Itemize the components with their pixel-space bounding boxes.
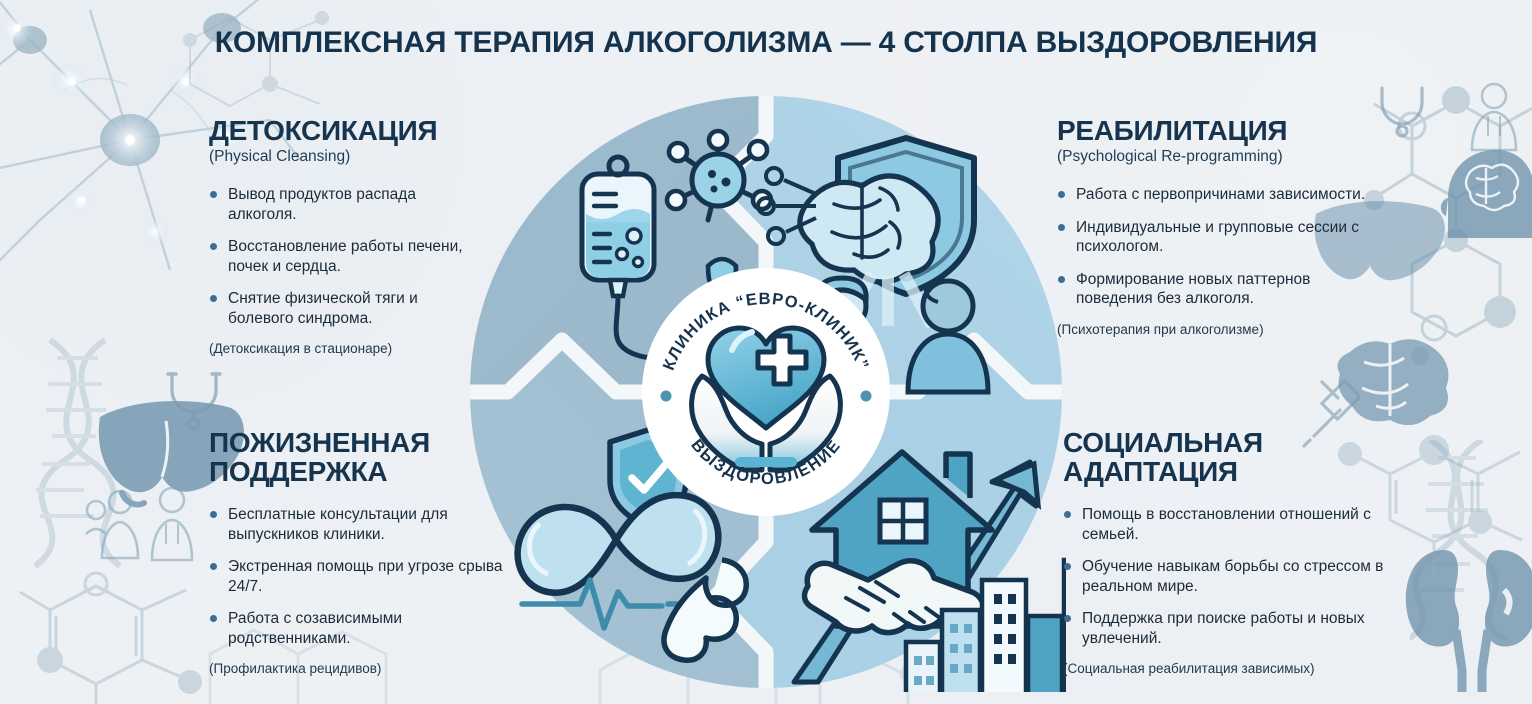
molecule-hexagon-icon [170,0,370,130]
bullet-dot-icon [1058,276,1065,283]
bullet-text: Восстановление работы печени, почек и се… [228,238,463,275]
list-item: Помощь в восстановлении отношений с семь… [1063,505,1388,544]
bullet-dot-icon [210,243,217,250]
badge-dot-left [661,391,672,402]
bullet-text: Снятие физической тяги и болевого синдро… [228,290,418,327]
head-profile-brain-icon [1430,142,1532,242]
list-item: Бесплатные консультации для выпускников … [209,505,509,544]
pillar-heading-social: СОЦИАЛЬНАЯ АДАПТАЦИЯ [1063,428,1388,486]
pillar-note-detox: (Детоксикация в стационаре) [209,341,477,356]
pillar-bullet-list-detox: Вывод продуктов распада алкоголя. Восста… [209,185,477,328]
list-item: Индивидуальные и групповые сессии с псих… [1057,218,1387,257]
badge-dot-right [861,391,872,402]
stethoscope-icon [160,368,230,430]
pillar-block-rehab: РЕАБИЛИТАЦИЯ (Psychological Re-programmi… [1057,116,1387,337]
bullet-text: Работа с первопричинами зависимости. [1076,186,1365,203]
bullet-dot-icon [210,615,217,622]
infographic-poster: КОМПЛЕКСНАЯ ТЕРАПИЯ АЛКОГОЛИЗМА — 4 СТОЛ… [0,0,1532,704]
list-item: Вывод продуктов распада алкоголя. [209,185,477,224]
kidneys-icon [1400,520,1532,695]
pillar-heading-rehab: РЕАБИЛИТАЦИЯ [1057,116,1387,145]
bullet-text: Экстренная помощь при угрозе срыва 24/7. [228,558,503,595]
pillar-block-social: СОЦИАЛЬНАЯ АДАПТАЦИЯ Помощь в восстановл… [1063,428,1388,676]
molecule-hexagon-icon [10,560,240,704]
pillar-subheading-rehab: (Psychological Re-programming) [1057,148,1387,166]
bullet-dot-icon [210,191,217,198]
bullet-text: Вывод продуктов распада алкоголя. [228,186,416,223]
bullet-text: Индивидуальные и групповые сессии с псих… [1076,219,1359,256]
bullet-dot-icon [1064,563,1071,570]
list-item: Экстренная помощь при угрозе срыва 24/7. [209,557,509,596]
pillar-block-detox: ДЕТОКСИКАЦИЯ (Physical Cleansing) Вывод … [209,116,477,356]
list-item: Поддержка при поиске работы и новых увле… [1063,609,1388,648]
clinic-emblem-badge: КЛИНИКА “ЕВРО-КЛИНИК” ВЫЗДОРОВЛЕНИЕ [640,266,892,518]
list-item: Работа с первопричинами зависимости. [1057,185,1387,205]
bullet-dot-icon [1064,615,1071,622]
bullet-dot-icon [210,295,217,302]
dna-helix-icon [1410,440,1532,640]
bullet-dot-icon [1058,224,1065,231]
list-item: Обучение навыкам борьбы со стрессом в ре… [1063,557,1388,596]
page-title: КОМПЛЕКСНАЯ ТЕРАПИЯ АЛКОГОЛИЗМА — 4 СТОЛ… [0,26,1532,60]
pillar-heading-lifelong: ПОЖИЗНЕННАЯ ПОДДЕРЖКА [209,428,509,486]
pillar-block-lifelong: ПОЖИЗНЕННАЯ ПОДДЕРЖКА Бесплатные консуль… [209,428,509,676]
pillar-bullet-list-rehab: Работа с первопричинами зависимости. Инд… [1057,185,1387,309]
bullet-text: Поддержка при поиске работы и новых увле… [1082,610,1365,647]
pillar-note-social: (Социальная реабилитация зависимых) [1063,661,1388,676]
pillar-heading-detox: ДЕТОКСИКАЦИЯ [209,116,477,145]
bullet-text: Обучение навыкам борьбы со стрессом в ре… [1082,558,1383,595]
pillar-subheading-detox: (Physical Cleansing) [209,148,477,166]
bullet-text: Бесплатные консультации для выпускников … [228,506,448,543]
list-item: Снятие физической тяги и болевого синдро… [209,289,477,328]
bullet-text: Формирование новых паттернов поведения б… [1076,271,1310,308]
list-item: Восстановление работы печени, почек и се… [209,237,477,276]
bullet-dot-icon [1064,511,1071,518]
bullet-text: Помощь в восстановлении отношений с семь… [1082,506,1371,543]
bullet-dot-icon [1058,191,1065,198]
doctor-figure-icon [1460,78,1530,154]
pillar-bullet-list-lifelong: Бесплатные консультации для выпускников … [209,505,509,648]
list-item: Работа с созависимыми родственниками. [209,609,509,648]
pillar-note-rehab: (Психотерапия при алкоголизме) [1057,322,1387,337]
bullet-dot-icon [210,511,217,518]
pillar-note-lifelong: (Профилактика рецидивов) [209,661,509,676]
list-item: Формирование новых паттернов поведения б… [1057,270,1387,309]
bullet-dot-icon [210,563,217,570]
pillar-bullet-list-social: Помощь в восстановлении отношений с семь… [1063,505,1388,648]
bullet-text: Работа с созависимыми родственниками. [228,610,402,647]
